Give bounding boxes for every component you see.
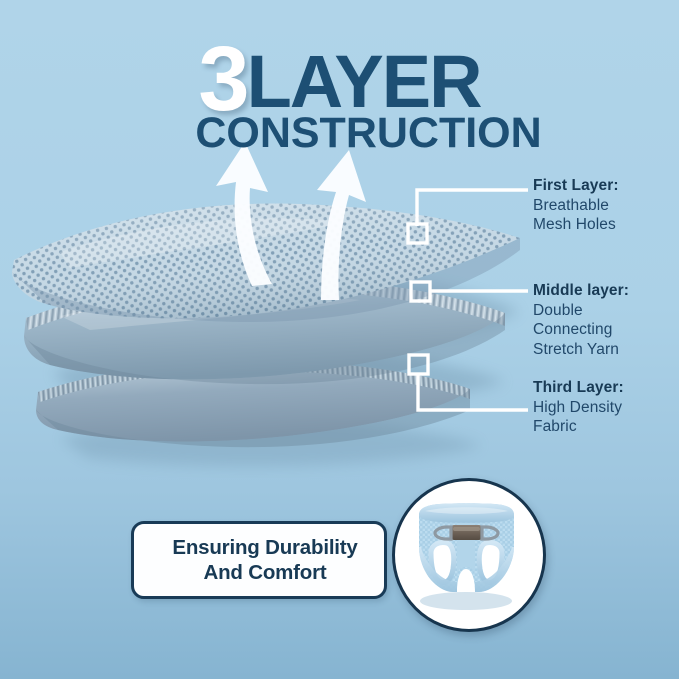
connector-line-first [417, 190, 528, 226]
product-photo-circle [392, 478, 546, 632]
callout-first-body: Breathable Mesh Holes [533, 196, 619, 235]
callout-third-layer: Third Layer: High Density Fabric [533, 378, 624, 437]
marker-square-first [408, 224, 427, 243]
callout-middle-heading: Middle layer: [533, 281, 629, 301]
callout-third-heading: Third Layer: [533, 378, 624, 398]
dog-harness-image [395, 481, 537, 623]
durability-banner: Ensuring Durability And Comfort [131, 521, 387, 599]
connector-line-third [418, 374, 528, 410]
callout-middle-body: Double Connecting Stretch Yarn [533, 301, 629, 360]
callout-first-layer: First Layer: Breathable Mesh Holes [533, 176, 619, 235]
callout-first-heading: First Layer: [533, 176, 619, 196]
marker-square-middle [411, 282, 430, 301]
callout-middle-layer: Middle layer: Double Connecting Stretch … [533, 281, 629, 359]
durability-banner-text: Ensuring Durability And Comfort [172, 535, 357, 585]
callout-third-body: High Density Fabric [533, 398, 624, 437]
marker-square-third [409, 355, 428, 374]
infographic-canvas: 3 LAYER CONSTRUCTION First Layer: Breath… [0, 0, 679, 679]
